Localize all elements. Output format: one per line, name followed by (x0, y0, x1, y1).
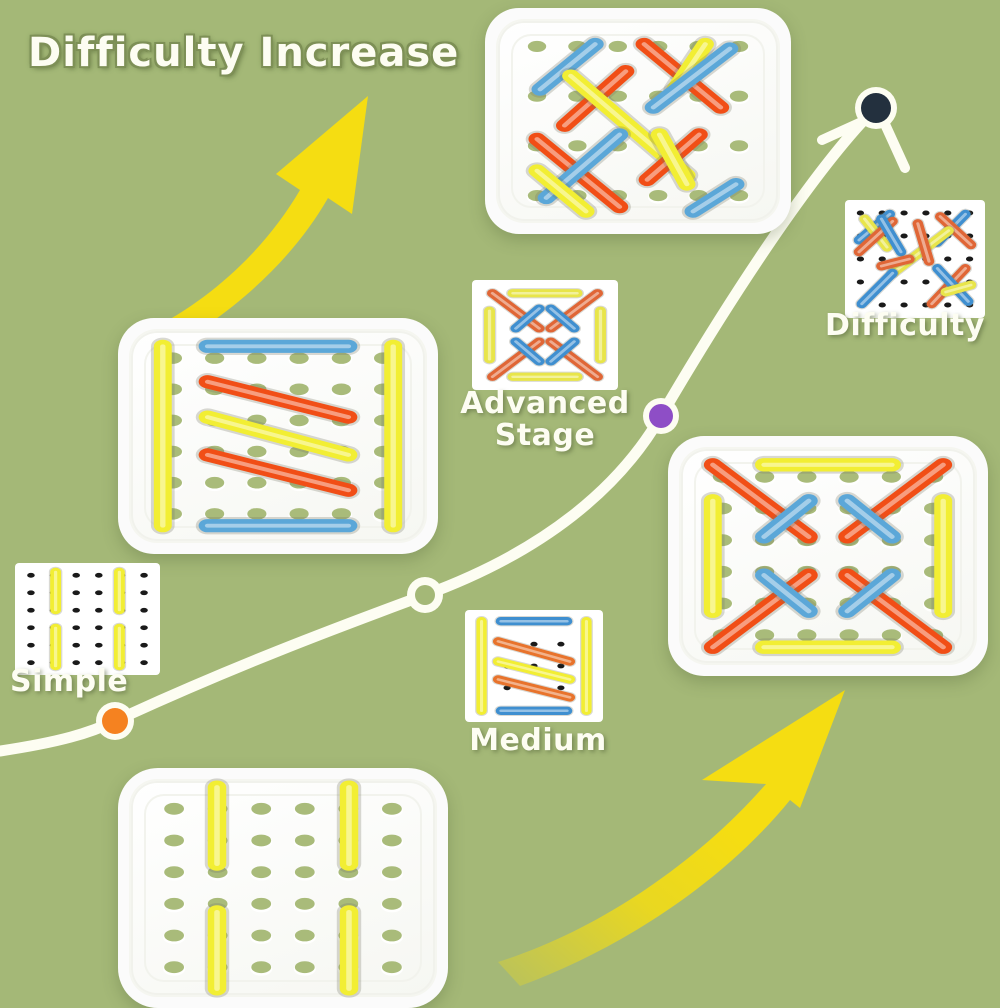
board-advanced-large[interactable] (485, 8, 791, 234)
board-simple-large[interactable] (118, 768, 448, 1008)
thumbnail-inner (15, 563, 160, 675)
endpoint-barb-right (884, 122, 905, 168)
thumbnail-inner (472, 280, 618, 390)
node-medium[interactable] (407, 577, 443, 613)
thumbnail-simple[interactable] (15, 563, 160, 675)
node-difficulty[interactable] (855, 87, 897, 129)
caption-difficulty: Difficulty (810, 310, 1000, 342)
board-medium-large[interactable] (118, 318, 438, 554)
board-lacing-area (118, 768, 448, 1008)
difficulty-progression-infographic: Difficulty Increase (0, 0, 1000, 1000)
caption-simple: Simple (10, 666, 170, 698)
board-lacing-area (118, 318, 438, 554)
page-title: Difficulty Increase (28, 30, 459, 76)
thumbnail-pattern (845, 200, 985, 318)
thumbnail-inner (465, 610, 603, 722)
thumbnail-advanced[interactable] (472, 280, 618, 390)
board-lacing-area (485, 8, 791, 234)
node-simple[interactable] (96, 702, 134, 740)
board-lacing-area (668, 436, 988, 676)
thumbnail-inner (845, 200, 985, 318)
thumbnail-pattern (472, 280, 618, 390)
board-difficult-large[interactable] (668, 436, 988, 676)
thumbnail-pattern (465, 610, 603, 722)
caption-advanced: Advanced Stage (440, 388, 650, 453)
caption-medium: Medium (443, 725, 633, 757)
thumbnail-difficulty[interactable] (845, 200, 985, 318)
thumbnail-pattern (15, 563, 160, 675)
thumbnail-medium[interactable] (465, 610, 603, 722)
